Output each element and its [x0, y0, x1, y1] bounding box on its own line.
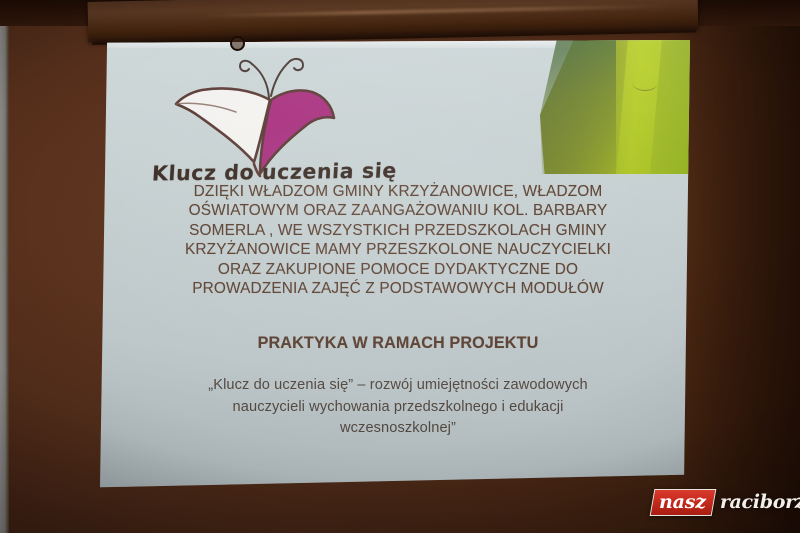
wall-left-edge-strip — [0, 0, 9, 533]
watermark-domain: raciborz.pl — [714, 489, 800, 516]
watermark-badge: nasz — [650, 489, 717, 516]
body-line: KRZYŻANOWICE MAMY PRZESZKOLONE NAUCZYCIE… — [134, 240, 662, 259]
slide-heading: PRAKTYKA W RAMACH PROJEKTU — [134, 334, 662, 353]
watermark-name: raciborz — [720, 493, 800, 512]
watermark-badge-label: nasz — [659, 493, 706, 512]
body-line: DZIĘKI WŁADZOM GMINY KRZYŻANOWICE, WŁADZ… — [134, 182, 662, 201]
quote-line: „Klucz do uczenia się” – rozwój umiejętn… — [134, 375, 662, 397]
body-line: OŚWIATOWYM ORAZ ZAANGAŻOWANIU KOL. BARBA… — [134, 201, 662, 220]
green-wedge-arc-mark — [632, 74, 658, 91]
site-watermark: nasz raciborz.pl — [652, 489, 800, 516]
green-corner-wedge-shadow — [540, 40, 616, 174]
quote-line: nauczycieli wychowania przedszkolnego i … — [134, 397, 662, 419]
slide-body-paragraph: DZIĘKI WŁADZOM GMINY KRZYŻANOWICE, WŁADZ… — [134, 182, 662, 298]
slide-quote-block: „Klucz do uczenia się” – rozwój umiejętn… — [134, 375, 662, 440]
projection-screen: Klucz do uczenia się DZIĘKI WŁADZOM GMIN… — [100, 40, 690, 490]
body-line: SOMERLA , WE WSZYSTKICH PRZEDSZKOLACH GM… — [134, 221, 662, 240]
quote-line: wczesnoszkolnej” — [134, 418, 662, 440]
photo-scene: Klucz do uczenia się DZIĘKI WŁADZOM GMIN… — [0, 0, 800, 533]
brand-logo: Klucz do uczenia się — [140, 52, 370, 202]
body-line: PROWADZENIA ZAJĘĆ Z PODSTAWOWYCH MODUŁÓW — [134, 279, 662, 298]
body-line: ORAZ ZAKUPIONE POMOCE DYDAKTYCZNE DO — [134, 260, 662, 279]
screen-pull-hook-icon — [230, 36, 245, 51]
